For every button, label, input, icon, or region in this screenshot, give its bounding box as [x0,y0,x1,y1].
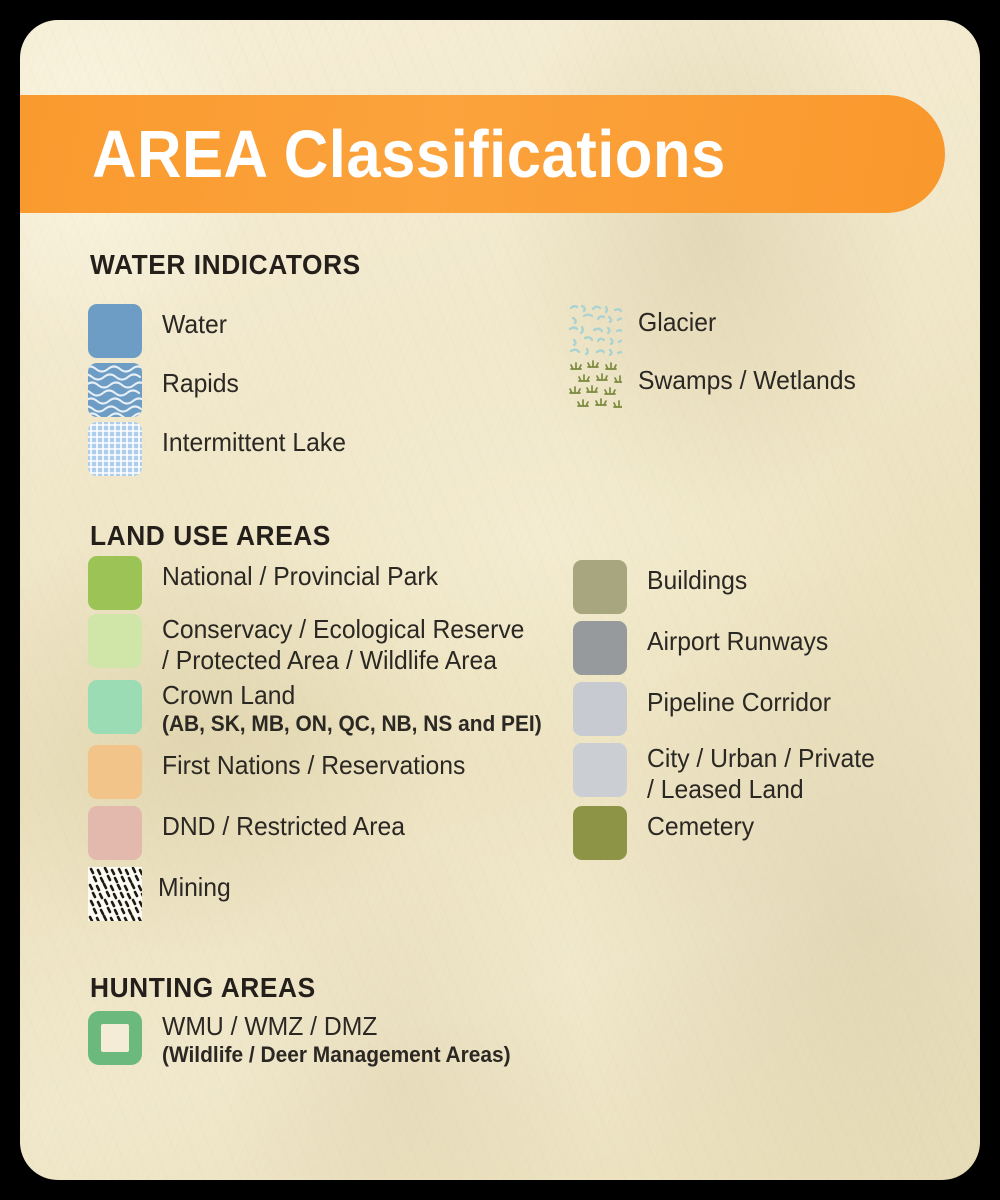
legend-card: AREA Classifications WATER INDICATORS Wa… [20,20,980,1180]
section-title-hunting-areas: HUNTING AREAS [90,972,316,1004]
legend-item-sublabel: (AB, SK, MB, ON, QC, NB, NS and PEI) [162,711,542,737]
legend-item-swamps-wetlands[interactable]: Swamps / Wetlands [568,360,867,414]
legend-item-label: Crown Land [162,680,542,711]
outlined-square-swatch [88,1011,142,1065]
legend-item-label-line2: / Protected Area / Wildlife Area [162,645,524,676]
legend-item-label: WMU / WMZ / DMZ [162,1011,511,1042]
legend-item-label: Intermittent Lake [162,427,346,458]
solid-fill-swatch [88,745,142,799]
solid-fill-swatch [88,806,142,860]
solid-fill-swatch [573,621,627,675]
legend-item-sublabel: (Wildlife / Deer Management Areas) [162,1042,511,1068]
section-title-water-indicators: WATER INDICATORS [90,249,361,281]
section-title-land-use-areas: LAND USE AREAS [90,520,331,552]
solid-fill-swatch [573,806,627,860]
legend-item-label: National / Provincial Park [162,561,438,592]
legend-item-conservacy[interactable]: Conservacy / Ecological Reserve / Protec… [88,614,544,676]
legend-item-label: Pipeline Corridor [647,687,831,718]
legend-item-buildings[interactable]: Buildings [573,560,753,614]
legend-item-label: Water [162,309,227,340]
legend-item-label: Mining [158,872,231,903]
legend-item-mining[interactable]: Mining [88,867,235,921]
legend-item-label: First Nations / Reservations [162,750,465,781]
legend-item-label: Buildings [647,565,747,596]
legend-item-label-line2: / Leased Land [647,774,875,805]
legend-item-label-line1: City / Urban / Private [647,743,875,774]
solid-fill-swatch [573,682,627,736]
legend-item-rapids[interactable]: Rapids [88,363,243,417]
legend-item-glacier[interactable]: Glacier [568,302,720,356]
legend-item-label: Swamps / Wetlands [638,365,856,396]
legend-item-dnd-restricted[interactable]: DND / Restricted Area [88,806,418,860]
legend-item-label: Glacier [638,307,716,338]
legend-item-national-provincial-park[interactable]: National / Provincial Park [88,556,452,610]
glacier-dashes-pattern-swatch [568,302,622,356]
solid-fill-swatch [88,556,142,610]
legend-item-label: Cemetery [647,811,754,842]
legend-item-label: Airport Runways [647,626,828,657]
solid-fill-swatch [573,743,627,797]
legend-item-crown-land[interactable]: Crown Land (AB, SK, MB, ON, QC, NB, NS a… [88,680,562,737]
legend-item-wmu[interactable]: WMU / WMZ / DMZ (Wildlife / Deer Managem… [88,1011,529,1068]
legend-item-label: Rapids [162,368,239,399]
legend-item-city-urban[interactable]: City / Urban / Private / Leased Land [573,743,887,805]
page-title: AREA Classifications [92,116,726,193]
wavy-lines-pattern-swatch [88,363,142,417]
swatch-inner-hole [101,1024,129,1052]
solid-fill-swatch [88,304,142,358]
mining-dashes-pattern-swatch [88,867,142,921]
solid-fill-swatch [88,680,142,734]
legend-item-first-nations[interactable]: First Nations / Reservations [88,745,481,799]
legend-item-water[interactable]: Water [88,304,230,358]
legend-item-intermittent-lake[interactable]: Intermittent Lake [88,422,356,476]
legend-item-label: DND / Restricted Area [162,811,405,842]
solid-fill-swatch [88,614,142,668]
marsh-grass-pattern-swatch [568,360,622,414]
legend-item-airport-runways[interactable]: Airport Runways [573,621,838,675]
legend-item-label-line1: Conservacy / Ecological Reserve [162,614,524,645]
grid-hatch-pattern-swatch [88,422,142,476]
legend-item-cemetery[interactable]: Cemetery [573,806,760,860]
header-banner: AREA Classifications [20,95,945,213]
solid-fill-swatch [573,560,627,614]
legend-item-pipeline-corridor[interactable]: Pipeline Corridor [573,682,841,736]
